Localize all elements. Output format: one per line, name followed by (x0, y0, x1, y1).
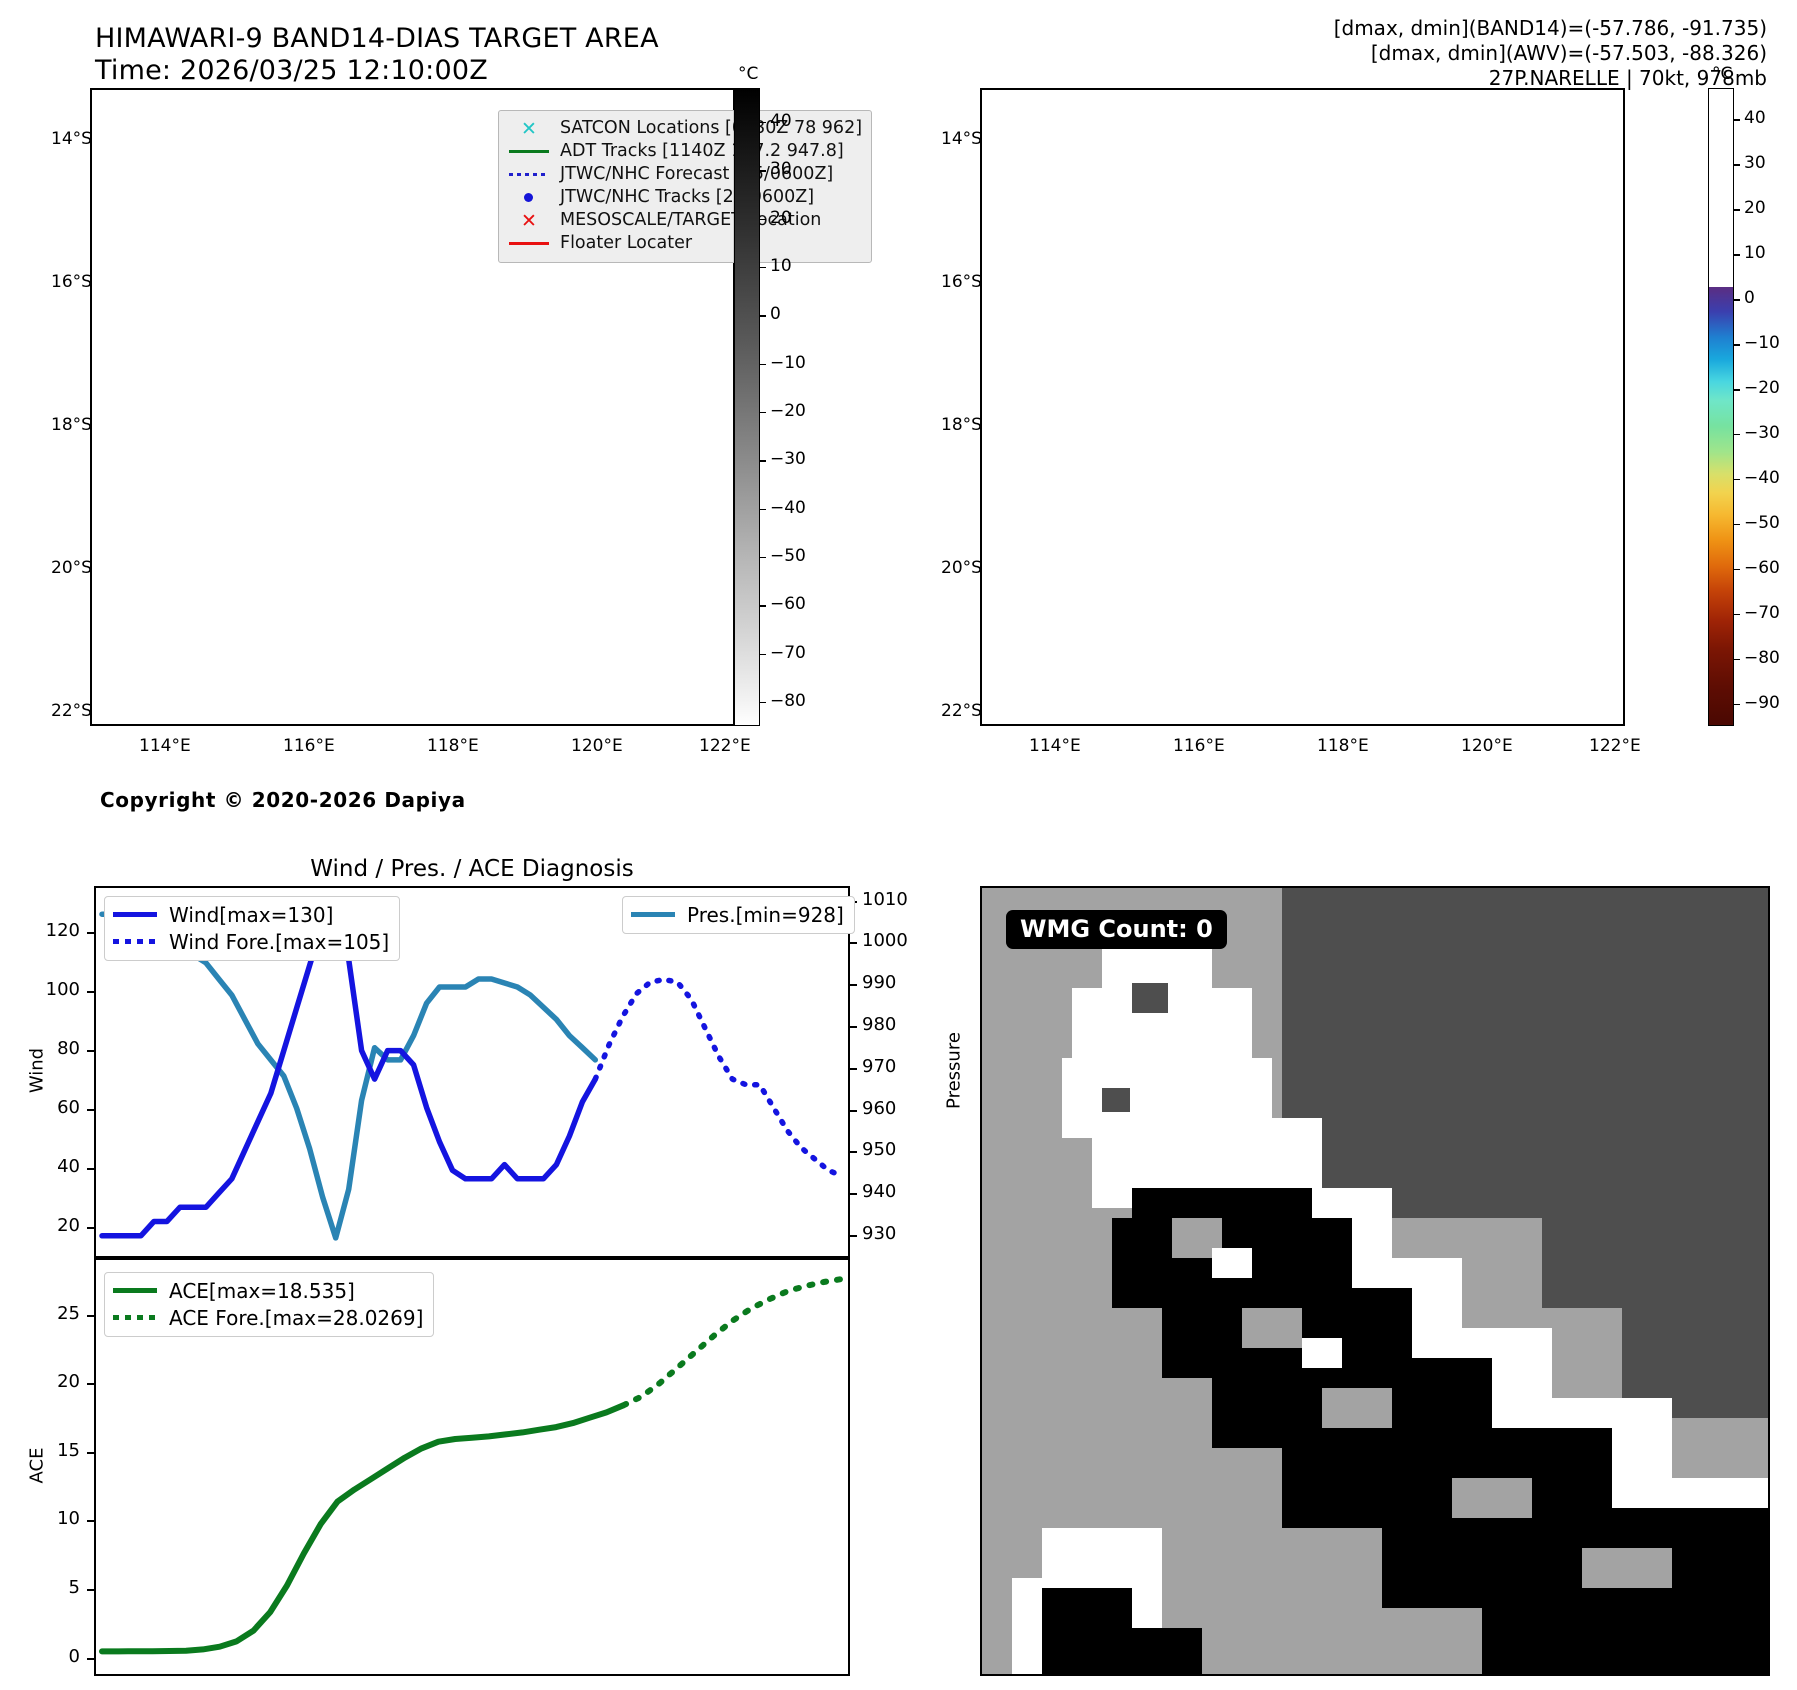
colorbar-tick (1734, 299, 1740, 301)
colorbar-tick (760, 170, 766, 172)
wind-tick-label: 120 (24, 920, 80, 941)
legend-label-jtwc-tracks: JTWC/NHC Tracks [25/0600Z] (560, 188, 814, 207)
legend-item-ace[interactable]: ACE[max=18.535] (113, 1277, 423, 1304)
red-line-icon (507, 242, 551, 245)
teal-solid-line-icon (631, 912, 679, 917)
colorbar-tick (1734, 344, 1740, 346)
axis-tick (848, 984, 857, 986)
axis-tick (848, 1235, 857, 1237)
axis-tick (87, 1227, 96, 1229)
axis-tick (848, 1068, 857, 1070)
page-timestamp: Time: 2026/03/25 12:10:00Z (95, 52, 488, 89)
colorbar-tick (760, 267, 766, 269)
ace-tick-label: 0 (24, 1646, 80, 1667)
adt-track (373, 280, 735, 456)
legend-label-wind-forecast: Wind Fore.[max=105] (169, 930, 389, 954)
colorbar-tick-label: 10 (1744, 243, 1766, 263)
copyright-notice: Copyright © 2020-2026 Dapiya (92, 786, 474, 815)
grid-lon-118 (457, 88, 459, 726)
axis-tick (87, 1050, 96, 1052)
pressure-chart-legend[interactable]: Pres.[min=928] (622, 896, 855, 934)
stat-awv: [dmax, dmin](AWV)=(-57.503, -88.326) (1334, 41, 1767, 66)
axis-tick (87, 1658, 96, 1660)
legend-label-satcon: SATCON Locations [0830Z 78 962] (560, 119, 862, 138)
colorbar-tick-label: −10 (770, 353, 806, 373)
map-right-lat-22: 22°S (941, 701, 982, 721)
legend-label-pressure: Pres.[min=928] (687, 903, 844, 927)
legend-item-mesoscale[interactable]: ✕ MESOSCALE/TARGET Location (507, 209, 862, 232)
colorbar-tick (1734, 569, 1740, 571)
colorbar-left-unit: °C (738, 64, 758, 84)
map-right-lon-118: 118°E (1317, 736, 1369, 756)
colorbar-tick (760, 509, 766, 511)
grid-lat-22-right (980, 709, 1625, 711)
colorbar-left[interactable] (734, 88, 760, 726)
grid-lon-118-right (1347, 88, 1349, 726)
colorbar-tick (760, 412, 766, 414)
colorbar-tick-label: 40 (1744, 108, 1766, 128)
colorbar-tick-label: −50 (1744, 513, 1780, 533)
colorbar-tick (1734, 164, 1740, 166)
colorbar-tick-label: −30 (1744, 423, 1780, 443)
grid-lat-20-right (980, 566, 1625, 568)
axis-tick (848, 942, 857, 944)
green-dotted-line-icon (113, 1315, 161, 1320)
pressure-tick-label: 1000 (862, 930, 908, 951)
wind-tick-label: 100 (24, 979, 80, 1000)
map-right-lat-14: 14°S (941, 129, 982, 149)
grid-lat-20 (90, 566, 735, 568)
map-right-lon-116: 116°E (1173, 736, 1225, 756)
stat-band14: [dmax, dmin](BAND14)=(-57.786, -91.735) (1334, 16, 1767, 41)
coastline-overlay-right (980, 88, 1625, 726)
colorbar-tick-label: −50 (770, 546, 806, 566)
ace-tick-label: 25 (24, 1303, 80, 1324)
colorbar-tick (1734, 254, 1740, 256)
colorbar-tick (1734, 119, 1740, 121)
colorbar-tick (1734, 389, 1740, 391)
legend-item-jtwc-tracks[interactable]: JTWC/NHC Tracks [25/0600Z] (507, 186, 862, 209)
legend-label-floater: Floater Locater (560, 234, 692, 253)
colorbar-tick (760, 557, 766, 559)
grid-lat-18-right (980, 423, 1625, 425)
wmg-raster (982, 888, 1768, 1674)
colorbar-tick-label: −20 (1744, 378, 1780, 398)
colorbar-tick (1734, 209, 1740, 211)
blue-dotted-line-icon (507, 173, 551, 176)
map-left-lon-120: 120°E (571, 736, 623, 756)
axis-tick (87, 991, 96, 993)
ace-axis-label: ACE (27, 1426, 48, 1506)
colorbar-tick-label: 0 (770, 304, 781, 324)
colorbar-tick (1734, 524, 1740, 526)
colorbar-tick-label: −70 (770, 643, 806, 663)
colorbar-tick-label: 30 (770, 159, 792, 179)
blue-dotted-line-icon-2 (113, 939, 161, 944)
colorbar-tick (760, 122, 766, 124)
colorbar-tick-label: −80 (770, 691, 806, 711)
header-stats: [dmax, dmin](BAND14)=(-57.786, -91.735) … (1334, 16, 1767, 91)
map-right-lat-16: 16°S (941, 272, 982, 292)
map-left-lat-16: 16°S (51, 272, 92, 292)
legend-label-ace-forecast: ACE Fore.[max=28.0269] (169, 1306, 423, 1330)
wind-tick-label: 40 (24, 1156, 80, 1177)
grid-lon-114 (169, 88, 171, 726)
colorbar-tick (760, 605, 766, 607)
wmg-classification-panel[interactable]: WMG Count: 0 (980, 886, 1770, 1676)
colorbar-tick (1734, 434, 1740, 436)
wind-tick-label: 20 (24, 1215, 80, 1236)
grid-lat-22 (90, 709, 735, 711)
map-left-lon-114: 114°E (139, 736, 191, 756)
wind-chart-legend[interactable]: Wind[max=130] Wind Fore.[max=105] (104, 896, 400, 961)
grid-lat-16 (90, 280, 735, 282)
legend-label-jtwc-forecast: JTWC/NHC Forecast [25/0600Z] (560, 165, 833, 184)
colorbar-right-unit: °C (1712, 64, 1732, 84)
colorbar-tick-label: −70 (1744, 603, 1780, 623)
wind-axis-label: Wind (27, 1031, 48, 1111)
map-left-lat-18: 18°S (51, 415, 92, 435)
map-right-lat-18: 18°S (941, 415, 982, 435)
map-left-lat-22: 22°S (51, 701, 92, 721)
colorbar-tick-label: 40 (770, 111, 792, 131)
colorbar-tick (1734, 659, 1740, 661)
ace-tick-label: 10 (24, 1508, 80, 1529)
chart-title: Wind / Pres. / ACE Diagnosis (94, 856, 850, 882)
axis-tick (87, 1383, 96, 1385)
green-line-icon (507, 150, 551, 153)
map-right-lon-122: 122°E (1589, 736, 1641, 756)
colorbar-tick (1734, 704, 1740, 706)
pressure-tick-label: 960 (862, 1098, 896, 1119)
axis-tick (87, 1520, 96, 1522)
pressure-tick-label: 940 (862, 1181, 896, 1202)
colorbar-tick (1734, 614, 1740, 616)
map-left-lat-14: 14°S (51, 129, 92, 149)
colorbar-tick (760, 364, 766, 366)
map-right-lon-114: 114°E (1029, 736, 1081, 756)
map-left-lat-20: 20°S (51, 558, 92, 578)
wmg-count-badge: WMG Count: 0 (1006, 910, 1227, 949)
ace-tick-label: 20 (24, 1371, 80, 1392)
colorbar-tick (1734, 479, 1740, 481)
colorbar-tick-label: 20 (1744, 198, 1766, 218)
colorbar-tick (760, 654, 766, 656)
pressure-tick-label: 970 (862, 1056, 896, 1077)
axis-tick (87, 1109, 96, 1111)
legend-label-wind: Wind[max=130] (169, 903, 333, 927)
pressure-tick-label: 950 (862, 1139, 896, 1160)
pressure-tick-label: 980 (862, 1014, 896, 1035)
legend-item-floater[interactable]: Floater Locater (507, 232, 862, 255)
cyan-x-icon: ✕ (507, 121, 551, 137)
colorbar-tick-label: −20 (770, 401, 806, 421)
colorbar-tick-label: −10 (1744, 333, 1780, 353)
colorbar-tick (760, 315, 766, 317)
colorbar-tick-label: 30 (1744, 153, 1766, 173)
grid-lon-120-right (1491, 88, 1493, 726)
axis-tick (848, 1026, 857, 1028)
colorbar-tick-label: −40 (770, 498, 806, 518)
blue-solid-line-icon (113, 912, 161, 917)
colorbar-tick (760, 219, 766, 221)
grid-lon-122-right (1619, 88, 1621, 726)
map-left-lon-122: 122°E (699, 736, 751, 756)
axis-tick (87, 1168, 96, 1170)
colorbar-tick-label: 0 (1744, 288, 1755, 308)
pressure-tick-label: 1010 (862, 889, 908, 910)
grid-lon-116-right (1203, 88, 1205, 726)
grid-lon-114-right (1059, 88, 1061, 726)
satellite-map-enhanced-ir[interactable] (980, 88, 1625, 726)
colorbar-tick-label: −30 (770, 449, 806, 469)
axis-tick (87, 1589, 96, 1591)
axis-tick (848, 1110, 857, 1112)
legend-item-wind-forecast[interactable]: Wind Fore.[max=105] (113, 928, 389, 955)
jtwc-forecast-track (194, 447, 313, 726)
map-left-lon-118: 118°E (427, 736, 479, 756)
axis-tick (848, 1193, 857, 1195)
map-right-lon-120: 120°E (1461, 736, 1513, 756)
grid-lat-14-right (980, 137, 1625, 139)
floater-locater (362, 322, 735, 477)
legend-item-jtwc-forecast[interactable]: JTWC/NHC Forecast [25/0600Z] (507, 163, 862, 186)
ace-chart-legend[interactable]: ACE[max=18.535] ACE Fore.[max=28.0269] (104, 1272, 434, 1337)
legend-item-ace-forecast[interactable]: ACE Fore.[max=28.0269] (113, 1304, 423, 1331)
colorbar-tick-label: −60 (1744, 558, 1780, 578)
map-left-lon-116: 116°E (283, 736, 335, 756)
colorbar-tick-label: −40 (1744, 468, 1780, 488)
axis-tick (87, 1315, 96, 1317)
map-right-lat-20: 20°S (941, 558, 982, 578)
pressure-tick-label: 930 (862, 1223, 896, 1244)
pressure-tick-label: 990 (862, 972, 896, 993)
axis-tick (848, 1151, 857, 1153)
colorbar-tick-label: −80 (1744, 648, 1780, 668)
grid-lat-16-right (980, 280, 1625, 282)
axis-tick (87, 932, 96, 934)
colorbar-tick-label: 20 (770, 208, 792, 228)
red-x-icon: ✕ (507, 213, 551, 229)
green-solid-line-icon (113, 1288, 161, 1293)
legend-item-pressure[interactable]: Pres.[min=928] (631, 901, 844, 928)
colorbar-tick-label: −60 (770, 594, 806, 614)
colorbar-right[interactable] (1708, 88, 1734, 726)
colorbar-tick-label: −90 (1744, 693, 1780, 713)
legend-label-ace: ACE[max=18.535] (169, 1279, 355, 1303)
legend-item-adt[interactable]: ADT Tracks [1140Z 107.2 947.8] (507, 140, 862, 163)
legend-item-satcon[interactable]: ✕ SATCON Locations [0830Z 78 962] (507, 117, 862, 140)
colorbar-tick (760, 702, 766, 704)
blue-line-marker-icon (507, 196, 551, 199)
pressure-axis-label: Pressure (944, 1025, 965, 1117)
axis-tick (87, 1452, 96, 1454)
colorbar-tick-label: 10 (770, 256, 792, 276)
ace-tick-label: 5 (24, 1577, 80, 1598)
grid-lat-18 (90, 423, 735, 425)
legend-label-adt: ADT Tracks [1140Z 107.2 947.8] (560, 142, 844, 161)
map-left-legend[interactable]: ✕ SATCON Locations [0830Z 78 962] ADT Tr… (498, 110, 872, 263)
grid-lon-116 (313, 88, 315, 726)
legend-item-wind[interactable]: Wind[max=130] (113, 901, 389, 928)
colorbar-tick (760, 460, 766, 462)
